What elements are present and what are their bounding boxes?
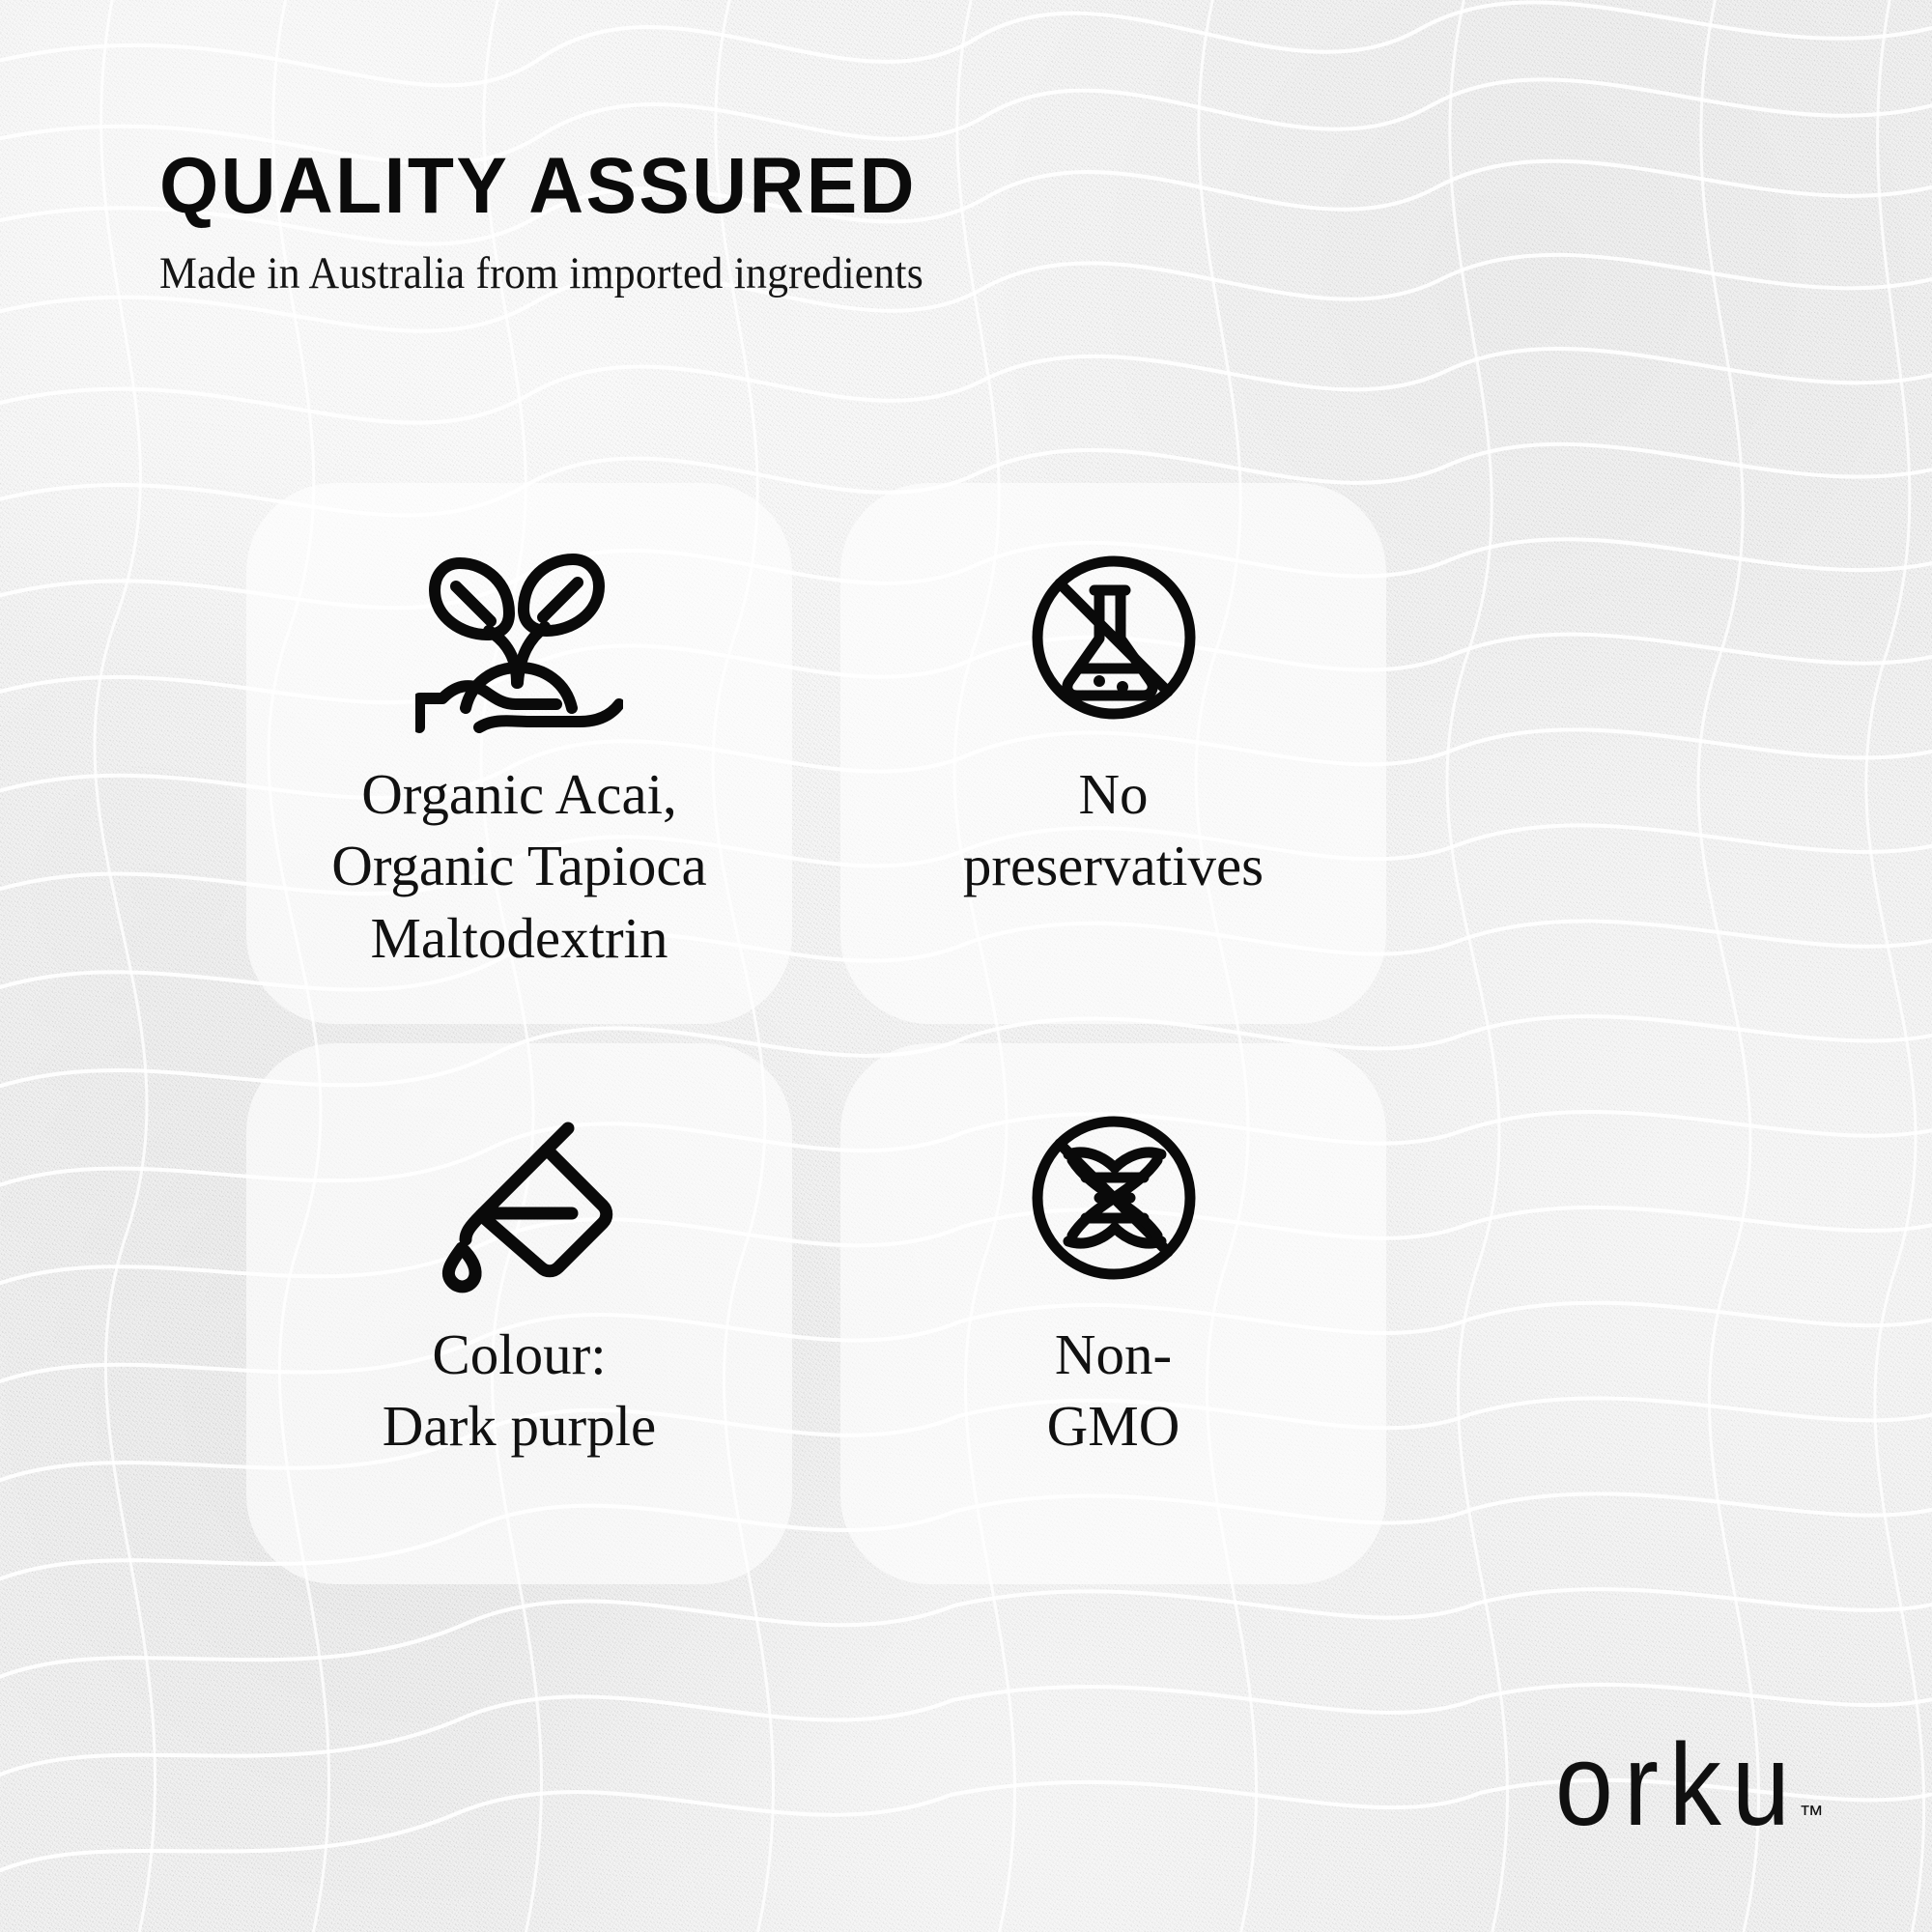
infographic-page: QUALITY ASSURED Made in Australia from i…: [0, 0, 1932, 1932]
feature-card-organic-ingredients: Organic Acai, Organic Tapioca Maltodextr…: [246, 483, 792, 1024]
paint-bucket-icon: [423, 1094, 616, 1301]
feature-card-grid: Organic Acai, Organic Tapioca Maltodextr…: [246, 483, 1676, 1584]
page-title: QUALITY ASSURED: [159, 147, 1550, 226]
feature-card-label: No preservatives: [946, 758, 1281, 902]
seedling-in-hand-icon: [415, 533, 623, 741]
feature-card-no-preservatives: No preservatives: [840, 483, 1386, 1024]
page-subtitle: Made in Australia from imported ingredie…: [159, 250, 1507, 298]
brand-name: orku: [1555, 1726, 1801, 1843]
feature-card-colour: Colour: Dark purple: [246, 1043, 792, 1584]
no-dna-icon: [1022, 1094, 1206, 1301]
feature-card-non-gmo: Non- GMO: [840, 1043, 1386, 1584]
brand-logo: orku ™: [1555, 1739, 1824, 1843]
trademark-symbol: ™: [1799, 1800, 1824, 1830]
no-flask-icon: [1022, 533, 1206, 741]
feature-card-label: Non- GMO: [1030, 1319, 1198, 1463]
feature-card-label: Organic Acai, Organic Tapioca Maltodextr…: [314, 758, 724, 974]
header: QUALITY ASSURED Made in Australia from i…: [159, 147, 1608, 298]
feature-card-label: Colour: Dark purple: [365, 1319, 673, 1463]
